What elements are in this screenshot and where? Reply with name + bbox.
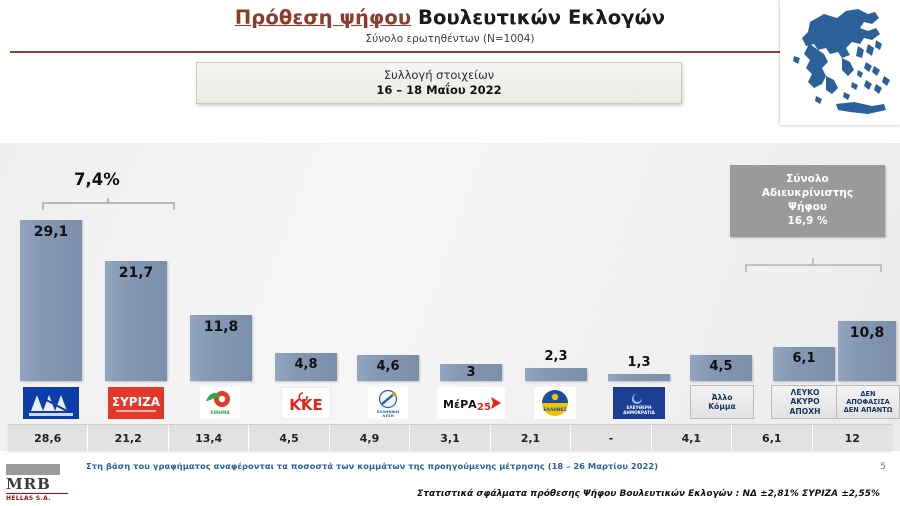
bar-column-syriza[interactable]: 21,7 <box>105 261 167 381</box>
bar-kke[interactable]: 4,8 <box>275 353 337 381</box>
bar-elliniki-lysi[interactable]: 4,6 <box>357 355 419 381</box>
prev-value-kinal: 13,4 <box>169 425 249 451</box>
header-divider <box>10 51 890 53</box>
bar-value-kinal: 11,8 <box>190 319 252 335</box>
page-number: 5 <box>880 462 886 472</box>
page-title-rest: Βουλευτικών Εκλογών <box>411 6 665 29</box>
prev-value-kke: 4,5 <box>249 425 329 451</box>
bar-mera25[interactable]: 3 <box>440 364 502 381</box>
bar-column-eleftheri[interactable]: 1,3 <box>608 374 670 381</box>
previous-values-strip: 28,6 21,2 13,4 4,5 4,9 3,1 2,1 - 4,1 6,1… <box>8 424 892 451</box>
bar-value-lefko: 6,1 <box>773 351 835 366</box>
slide-root: Πρόθεση ψήφου Βουλευτικών Εκλογών Σύνολο… <box>0 0 900 506</box>
kke-logo: ΚΚΕ <box>281 387 331 419</box>
page-title-emphasis: Πρόθεση ψήφου <box>235 6 411 29</box>
svg-text:25: 25 <box>477 402 491 413</box>
den-line-3: ΔΕΝ ΑΠΑΝΤΩ <box>844 406 893 414</box>
bar-value-elliniki-lysi: 4,6 <box>357 359 419 374</box>
kinal-logo: ΚΙΝΗΜΑ <box>200 387 240 419</box>
lefko-line-3: ΑΠΟΧΗ <box>790 407 821 416</box>
svg-text:ΕΛΛΗΝΕΣ: ΕΛΛΗΝΕΣ <box>543 407 566 413</box>
svg-text:ΛΥΣΗ: ΛΥΣΗ <box>382 413 393 418</box>
bar-nd[interactable]: 29,1 <box>20 220 82 381</box>
greece-map-card <box>780 0 900 125</box>
bar-syriza[interactable]: 21,7 <box>105 261 167 381</box>
bars-plot: 29,1 21,7 ΣΥΡΙΖΑ <box>0 143 900 423</box>
bar-value-mera25: 3 <box>440 365 502 380</box>
prev-value-eleftheri: - <box>571 425 651 451</box>
ellines-logo: ΕΛΛΗΝΕΣ <box>534 387 576 419</box>
svg-text:ΔΗΜΟΚΡΑΤΙΑ: ΔΗΜΟΚΡΑΤΙΑ <box>623 410 655 415</box>
bar-lefko[interactable]: 6,1 <box>773 347 835 381</box>
den-apofasisa-plate: ΔΕΝ ΑΠΟΦΑΣΙΣΑ ΔΕΝ ΑΠΑΝΤΩ <box>836 385 900 419</box>
bar-value-eleftheri: 1,3 <box>608 355 670 370</box>
lefko-akyro-plate: ΛΕΥΚΟ ΑΚΥΡΟ ΑΠΟΧΗ <box>771 385 839 419</box>
lefko-line-2: ΑΚΥΡΟ <box>790 397 819 406</box>
data-collection-box: Συλλογή στοιχείων 16 – 18 Μαΐου 2022 <box>196 62 682 104</box>
bar-value-allo-komma: 4,5 <box>690 359 752 374</box>
bar-value-ellines: 2,3 <box>525 349 587 364</box>
bar-column-lefko[interactable]: 6,1 <box>773 347 835 381</box>
syriza-logo: ΣΥΡΙΖΑ <box>108 387 164 419</box>
prev-value-den: 12 <box>813 425 892 451</box>
svg-text:ΚΙΝΗΜΑ: ΚΙΝΗΜΑ <box>210 410 230 415</box>
bar-eleftheri[interactable]: 1,3 <box>608 374 670 381</box>
greece-map-icon <box>780 0 900 125</box>
prev-value-ellines: 2,1 <box>491 425 571 451</box>
allo-komma-plate: Άλλο Κόμμα <box>690 385 754 419</box>
bar-column-ellines[interactable]: 2,3 <box>525 368 587 381</box>
allo-komma-line-2: Κόμμα <box>708 402 736 411</box>
nd-logo <box>23 387 79 419</box>
prev-value-mera25: 3,1 <box>410 425 490 451</box>
mera25-logo: ΜέΡΑ 25 <box>437 387 505 419</box>
svg-text:ΜέΡΑ: ΜέΡΑ <box>443 398 477 411</box>
bar-value-nd: 29,1 <box>20 224 82 240</box>
bar-value-kke: 4,8 <box>275 357 337 372</box>
page-subtitle: Σύνολο ερωτηθέντων (Ν=1004) <box>0 33 900 45</box>
bar-column-elliniki-lysi[interactable]: 4,6 <box>357 355 419 381</box>
footnote-previous-measurement: Στη βάση του γραφήματος αναφέρονται τα π… <box>86 461 786 471</box>
den-line-2: ΑΠΟΦΑΣΙΣΑ <box>846 398 890 406</box>
prev-value-allo: 4,1 <box>652 425 732 451</box>
prev-value-lefko: 6,1 <box>732 425 812 451</box>
collection-label: Συλλογή στοιχείων <box>384 68 494 83</box>
bar-allo-komma[interactable]: 4,5 <box>690 355 752 381</box>
bar-column-den-apofasisa[interactable]: 10,8 <box>838 321 896 381</box>
eleftheri-dimokratia-logo: ΕΛΕΥΘΕΡΗ ΔΗΜΟΚΡΑΤΙΑ <box>613 387 665 419</box>
prev-value-elliniki: 4,9 <box>330 425 410 451</box>
prev-value-syriza: 21,2 <box>88 425 168 451</box>
svg-text:ΣΥΡΙΖΑ: ΣΥΡΙΖΑ <box>112 395 161 409</box>
bar-column-allo-komma[interactable]: 4,5 <box>690 355 752 381</box>
bar-den-apofasisa[interactable]: 10,8 <box>838 321 896 381</box>
bar-column-kinal[interactable]: 11,8 <box>190 315 252 381</box>
bar-column-mera25[interactable]: 3 <box>440 364 502 381</box>
den-line-1: ΔΕΝ <box>860 390 875 398</box>
bar-value-den-apofasisa: 10,8 <box>838 325 896 341</box>
elliniki-lysi-logo: ΕΛΛΗΝΙΚΗ ΛΥΣΗ <box>368 387 408 419</box>
bar-value-syriza: 21,7 <box>105 265 167 281</box>
bar-column-kke[interactable]: 4,8 <box>275 353 337 381</box>
mrb-logo-bar <box>6 464 60 475</box>
bar-kinal[interactable]: 11,8 <box>190 315 252 381</box>
bar-column-nd[interactable]: 29,1 <box>20 220 82 381</box>
statistical-errors-note: Στατιστικά σφάλματα πρόθεσης Ψήφου Βουλε… <box>0 489 880 499</box>
page-title: Πρόθεση ψήφου Βουλευτικών Εκλογών <box>0 6 900 29</box>
lefko-line-1: ΛΕΥΚΟ <box>791 388 820 397</box>
prev-value-nd: 28,6 <box>8 425 88 451</box>
allo-komma-line-1: Άλλο <box>712 393 733 402</box>
bar-ellines[interactable]: 2,3 <box>525 368 587 381</box>
collection-dates: 16 – 18 Μαΐου 2022 <box>376 83 501 98</box>
